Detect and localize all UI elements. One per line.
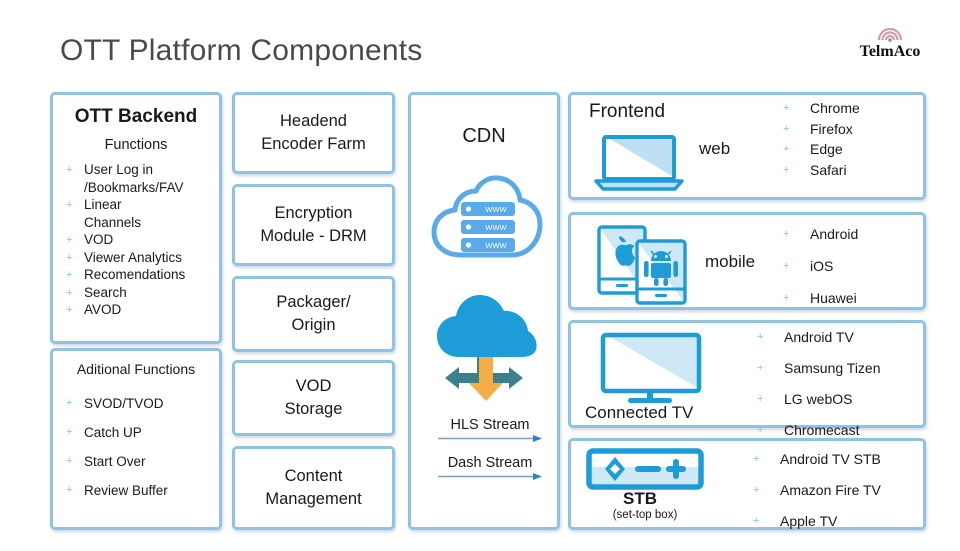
pipeline-label-line1: Encryption [260, 202, 366, 225]
bullet-plus-icon: + [66, 162, 72, 179]
frontend-web-option-list: +Chrome +Firefox +Edge +Safari [778, 98, 860, 180]
option-label: Safari [810, 162, 847, 178]
pipeline-box-label: VOD Storage [285, 375, 343, 421]
cloud-distribution-icon [435, 291, 539, 401]
server-www-label: WWW [485, 223, 507, 232]
list-item: +Firefox [778, 119, 860, 140]
bullet-plus-icon: + [66, 232, 72, 249]
option-label: LG webOS [784, 391, 852, 407]
device-label-mobile: mobile [705, 252, 755, 272]
pipeline-label-line2: Origin [276, 314, 350, 337]
list-item: + Recomendations [53, 266, 219, 284]
option-label: Android [810, 226, 858, 242]
device-label-web: web [699, 139, 730, 159]
option-label: Chromecast [784, 422, 859, 438]
pipeline-box-label: Encryption Module - DRM [260, 202, 366, 248]
function-label: AVOD [84, 302, 121, 317]
bullet-plus-icon: + [66, 197, 72, 214]
bullet-plus-icon: + [783, 250, 789, 282]
bullet-plus-icon: + [66, 267, 72, 284]
frontend-heading: Frontend [589, 101, 665, 123]
list-item: + VOD [53, 231, 219, 249]
option-label: Android TV [784, 329, 854, 345]
bullet-plus-icon: + [757, 353, 763, 384]
pipeline-label-line2: Module - DRM [260, 225, 366, 248]
list-item: + Catch UP [53, 418, 219, 447]
list-item: + Search [53, 284, 219, 302]
logo-text: TelmAco [860, 43, 921, 60]
list-item: +Amazon Fire TV [748, 475, 881, 506]
pipeline-box-encryption: Encryption Module - DRM [232, 184, 395, 266]
ott-backend-subtitle: Functions [53, 137, 219, 153]
pipeline-label-line1: Content [265, 465, 361, 488]
pipeline-label-line2: Management [265, 488, 361, 511]
pipeline-label-line1: Headend [261, 110, 366, 133]
list-item: + Linear Channels [53, 196, 219, 231]
pipeline-box-label: Packager/ Origin [276, 291, 350, 337]
smartphones-icon [593, 223, 697, 312]
pipeline-label-line1: Packager/ [276, 291, 350, 314]
list-item: +Safari [778, 160, 860, 181]
list-item: +Huawei [778, 282, 858, 314]
dash-stream: Dash Stream [435, 455, 545, 481]
list-item: +LG webOS [752, 384, 881, 415]
function-label-cont: Channels [84, 214, 219, 232]
brand-logo: TelmAco [842, 18, 938, 64]
additional-functions-title: Aditional Functions [53, 361, 219, 377]
arrow-right-icon [435, 472, 545, 481]
dash-stream-label: Dash Stream [435, 455, 545, 471]
additional-function-label: Start Over [84, 454, 146, 469]
function-label: Search [84, 285, 127, 300]
list-item: +Android [778, 218, 858, 250]
laptop-icon [593, 133, 685, 196]
function-label: Linear [84, 197, 122, 212]
bullet-plus-icon: + [757, 384, 763, 415]
option-label: Firefox [810, 121, 853, 137]
additional-functions-card: Aditional Functions + SVOD/TVOD + Catch … [50, 348, 222, 530]
list-item: + Start Over [53, 447, 219, 476]
server-www-label: WWW [485, 205, 507, 214]
ott-backend-title: OTT Backend [53, 106, 219, 128]
cloud-servers-icon: WWW WWW WWW [430, 175, 544, 269]
list-item: +Apple TV [748, 506, 881, 537]
bullet-plus-icon: + [783, 98, 789, 119]
list-item: +Chrome [778, 98, 860, 119]
bullet-plus-icon: + [66, 285, 72, 302]
device-label-stb: STB [623, 489, 657, 509]
ott-backend-function-list: + User Log in /Bookmarks/FAV + Linear Ch… [53, 161, 219, 319]
bullet-plus-icon: + [783, 160, 789, 181]
option-label: Samsung Tizen [784, 360, 881, 376]
pipeline-label-line2: Storage [285, 398, 343, 421]
option-label: Amazon Fire TV [780, 482, 881, 498]
list-item: +iOS [778, 250, 858, 282]
bullet-plus-icon: + [753, 444, 759, 475]
bullet-plus-icon: + [66, 418, 72, 447]
additional-function-label: SVOD/TVOD [84, 396, 164, 411]
option-label: Apple TV [780, 513, 837, 529]
pipeline-label-line1: VOD [285, 375, 343, 398]
bullet-plus-icon: + [783, 282, 789, 314]
option-label: Android TV STB [780, 451, 881, 467]
frontend-connected-tv-option-list: +Android TV +Samsung Tizen +LG webOS +Ch… [752, 322, 881, 446]
frontend-mobile-option-list: +Android +iOS +Huawei [778, 218, 858, 314]
arrow-right-icon [435, 434, 545, 443]
function-label: VOD [84, 232, 113, 247]
list-item: + SVOD/TVOD [53, 389, 219, 418]
server-www-label: WWW [485, 241, 507, 250]
device-label-connected-tv: Connected TV [585, 403, 693, 423]
function-label: User Log in [84, 162, 153, 177]
bullet-plus-icon: + [66, 447, 72, 476]
option-label: Edge [810, 141, 843, 157]
pipeline-box-headend: Headend Encoder Farm [232, 92, 395, 174]
list-item: + Review Buffer [53, 476, 219, 505]
additional-function-label: Review Buffer [84, 483, 168, 498]
function-label-cont: /Bookmarks/FAV [84, 179, 219, 197]
additional-functions-list: + SVOD/TVOD + Catch UP + Start Over + Re… [53, 389, 219, 505]
list-item: +Android TV [752, 322, 881, 353]
cdn-title: CDN [411, 125, 557, 148]
pipeline-box-content-management: Content Management [232, 446, 395, 530]
option-label: Huawei [810, 290, 857, 306]
function-label: Viewer Analytics [84, 250, 182, 265]
option-label: Chrome [810, 100, 860, 116]
bullet-plus-icon: + [753, 506, 759, 537]
list-item: +Android TV STB [748, 444, 881, 475]
frontend-web-card: Frontend web [568, 92, 926, 200]
pipeline-box-label: Content Management [265, 465, 361, 511]
bullet-plus-icon: + [783, 119, 789, 140]
pipeline-box-label: Headend Encoder Farm [261, 110, 366, 156]
bullet-plus-icon: + [66, 476, 72, 505]
function-label: Recomendations [84, 267, 185, 282]
bullet-plus-icon: + [783, 139, 789, 160]
pipeline-box-vod-storage: VOD Storage [232, 360, 395, 436]
cdn-card: CDN WWW WWW WWW [408, 92, 560, 530]
device-sublabel-stb: (set-top box) [585, 509, 705, 521]
bullet-plus-icon: + [753, 475, 759, 506]
bullet-plus-icon: + [757, 322, 763, 353]
bullet-plus-icon: + [66, 250, 72, 267]
bullet-plus-icon: + [66, 302, 72, 319]
television-icon [597, 331, 705, 410]
page-title: OTT Platform Components [60, 34, 423, 68]
pipeline-box-packager: Packager/ Origin [232, 276, 395, 352]
hls-stream-label: HLS Stream [435, 417, 545, 433]
frontend-stb-option-list: +Android TV STB +Amazon Fire TV +Apple T… [748, 444, 881, 537]
list-item: +Samsung Tizen [752, 353, 881, 384]
list-item: +Edge [778, 139, 860, 160]
ott-backend-card: OTT Backend Functions + User Log in /Boo… [50, 92, 222, 344]
additional-function-label: Catch UP [84, 425, 142, 440]
list-item: + AVOD [53, 301, 219, 319]
bullet-plus-icon: + [66, 389, 72, 418]
pipeline-label-line2: Encoder Farm [261, 133, 366, 156]
list-item: + Viewer Analytics [53, 249, 219, 267]
list-item: + User Log in /Bookmarks/FAV [53, 161, 219, 196]
hls-stream: HLS Stream [435, 417, 545, 443]
slide-canvas: OTT Platform Components TelmAco OTT Back… [0, 0, 960, 551]
frontend-mobile-card: mobile [568, 212, 926, 310]
bullet-plus-icon: + [783, 218, 789, 250]
option-label: iOS [810, 258, 833, 274]
